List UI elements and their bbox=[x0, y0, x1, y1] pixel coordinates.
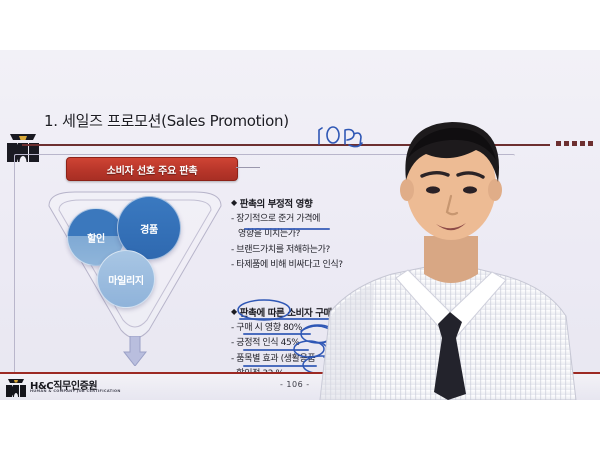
down-arrow-icon bbox=[123, 336, 147, 366]
footer-org-subtitle: HUMAN & COMPANY JOB CERTIFICATION bbox=[30, 389, 121, 393]
footer-gate-emblem-icon bbox=[6, 377, 26, 397]
circle-mileage-label: 마일리지 bbox=[108, 272, 144, 287]
funnel-diagram: 할인 경품 마일리지 선호하는 판촉수단 bbox=[45, 188, 225, 388]
diamond-bullet-icon-2: ◆ bbox=[231, 305, 237, 318]
circle-mileage: 마일리지 bbox=[97, 250, 155, 308]
circle-discount-label: 할인 bbox=[87, 230, 105, 245]
banner-leader-line bbox=[236, 167, 260, 168]
lecture-video-frame[interactable]: 1. 세일즈 프로모션(Sales Promotion) 소비자 선호 주요 판… bbox=[0, 50, 600, 400]
diamond-bullet-icon: ◆ bbox=[231, 196, 237, 209]
banner-label: 소비자 선호 주요 판촉 bbox=[107, 162, 198, 177]
slide-title: 1. 세일즈 프로모션(Sales Promotion) bbox=[44, 110, 289, 131]
banner-consumer-preference: 소비자 선호 주요 판촉 bbox=[66, 157, 238, 181]
block1-line-2-text: 영향을 미치는가? bbox=[231, 229, 300, 240]
circle-prize-label: 경품 bbox=[140, 221, 158, 236]
screenshot-root: 1. 세일즈 프로모션(Sales Promotion) 소비자 선호 주요 판… bbox=[0, 0, 600, 450]
presenter-video-figure bbox=[300, 50, 600, 400]
